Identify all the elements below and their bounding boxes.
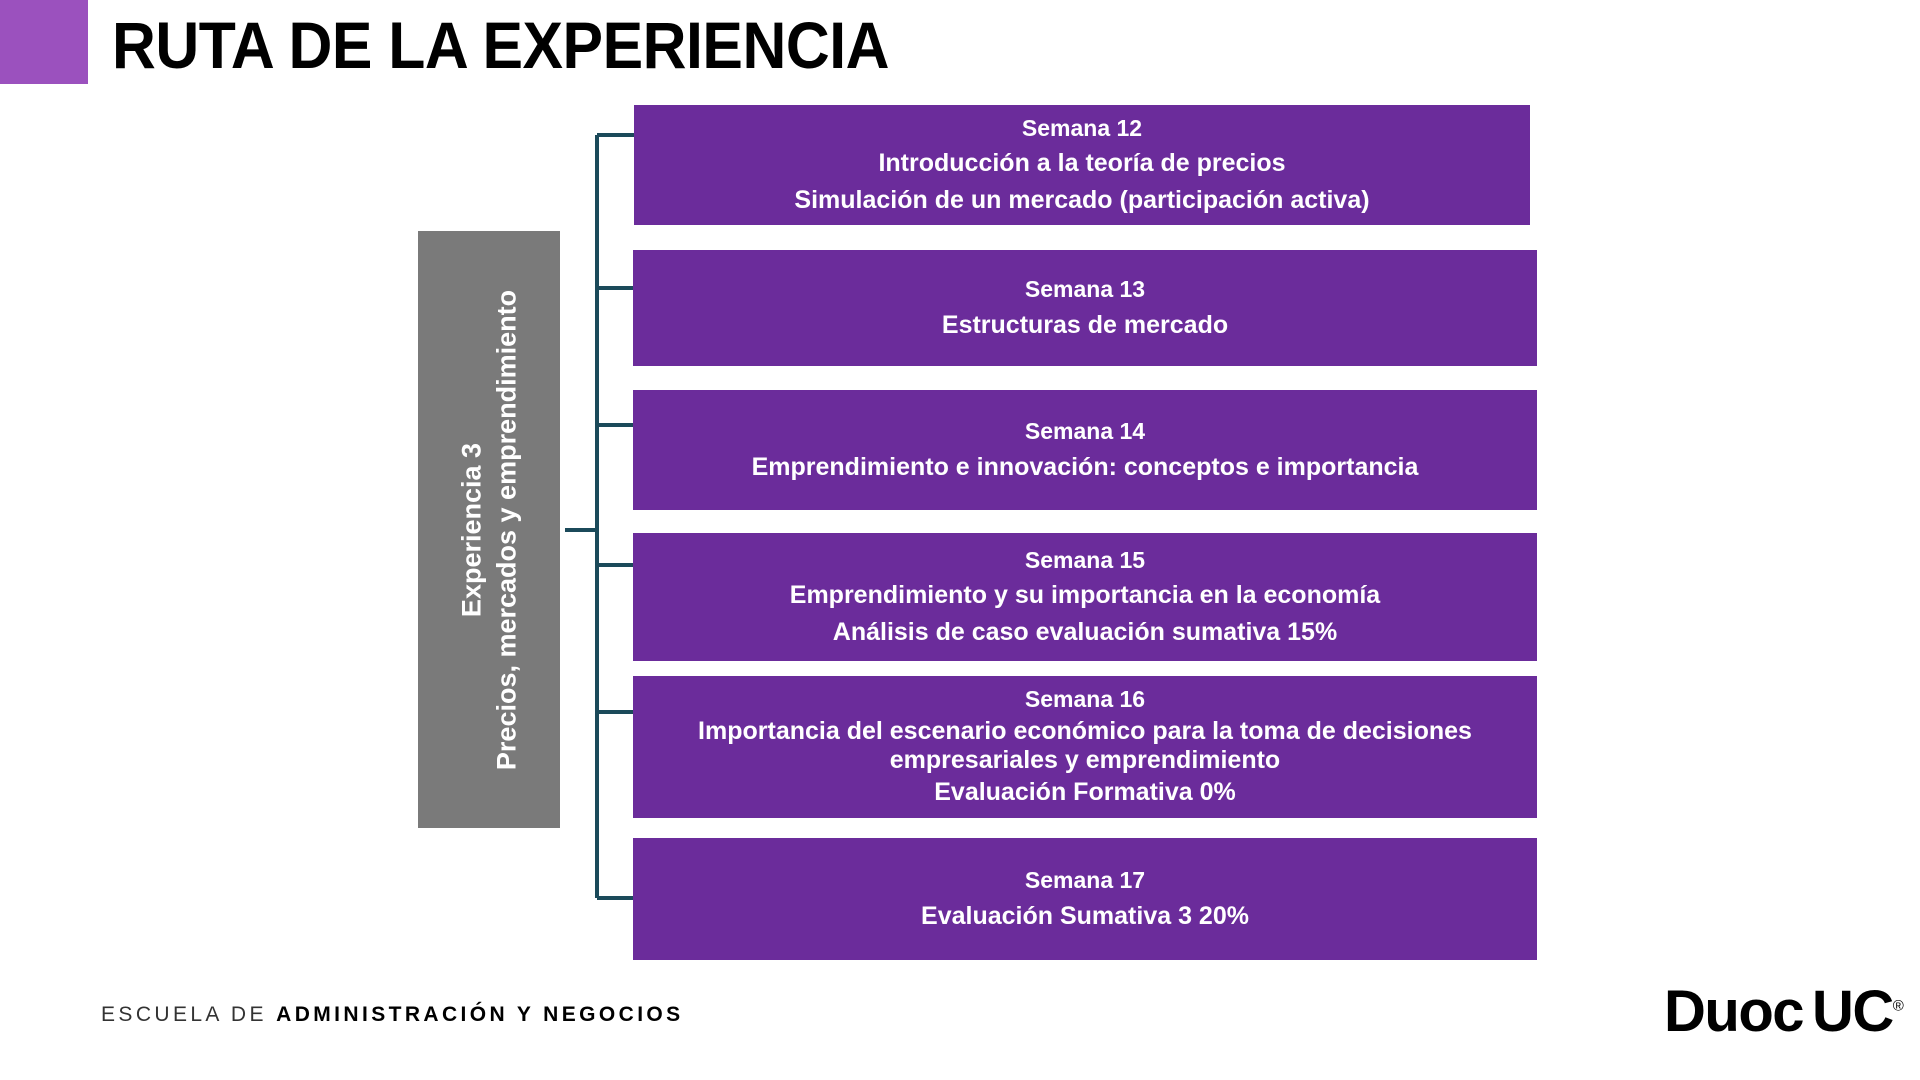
week-card: Semana 12 Introducción a la teoría de pr… bbox=[634, 105, 1530, 225]
experience-label-text: Experiencia 3 Precios, mercados y empren… bbox=[418, 231, 560, 828]
page-title: RUTA DE LA EXPERIENCIA bbox=[112, 12, 889, 78]
week-detail-line: Análisis de caso evaluación sumativa 15% bbox=[833, 614, 1337, 650]
week-detail-line: Introducción a la teoría de precios bbox=[878, 145, 1285, 181]
week-card: Semana 17 Evaluación Sumativa 3 20% bbox=[633, 838, 1537, 960]
footer-school-name: ESCUELA DE ADMINISTRACIÓN Y NEGOCIOS bbox=[101, 1003, 684, 1027]
week-detail-line: Evaluación Formativa 0% bbox=[934, 774, 1236, 810]
footer-school-suffix: ADMINISTRACIÓN Y NEGOCIOS bbox=[276, 1003, 683, 1026]
week-card: Semana 15 Emprendimiento y su importanci… bbox=[633, 533, 1537, 661]
week-heading: Semana 16 bbox=[1025, 683, 1145, 716]
week-heading: Semana 15 bbox=[1025, 544, 1145, 577]
week-heading: Semana 12 bbox=[1022, 112, 1142, 145]
week-card: Semana 16 Importancia del escenario econ… bbox=[633, 676, 1537, 818]
week-detail-line: Simulación de un mercado (participación … bbox=[794, 182, 1369, 218]
experience-label-panel: Experiencia 3 Precios, mercados y empren… bbox=[418, 231, 560, 828]
registered-trademark-icon: ® bbox=[1893, 998, 1904, 1015]
week-detail-line: Estructuras de mercado bbox=[942, 307, 1228, 343]
week-detail-line: Evaluación Sumativa 3 20% bbox=[921, 898, 1249, 934]
week-detail-line: Emprendimiento e innovación: conceptos e… bbox=[752, 449, 1419, 485]
week-card: Semana 13 Estructuras de mercado bbox=[633, 250, 1537, 366]
week-detail-line: Importancia del escenario económico para… bbox=[651, 717, 1519, 775]
experience-label-line2: Precios, mercados y emprendimiento bbox=[489, 289, 524, 769]
accent-square bbox=[0, 0, 88, 84]
week-detail-line: Emprendimiento y su importancia en la ec… bbox=[790, 577, 1380, 613]
duoc-uc-logo: DuocUC® bbox=[1664, 983, 1904, 1041]
experience-label-line1: Experiencia 3 bbox=[454, 442, 489, 616]
logo-duoc-text: Duoc bbox=[1664, 979, 1803, 1044]
logo-uc-text: UC bbox=[1812, 979, 1893, 1044]
week-heading: Semana 14 bbox=[1025, 415, 1145, 448]
footer-school-prefix: ESCUELA DE bbox=[101, 1003, 267, 1026]
week-heading: Semana 13 bbox=[1025, 273, 1145, 306]
week-card: Semana 14 Emprendimiento e innovación: c… bbox=[633, 390, 1537, 510]
week-heading: Semana 17 bbox=[1025, 864, 1145, 897]
